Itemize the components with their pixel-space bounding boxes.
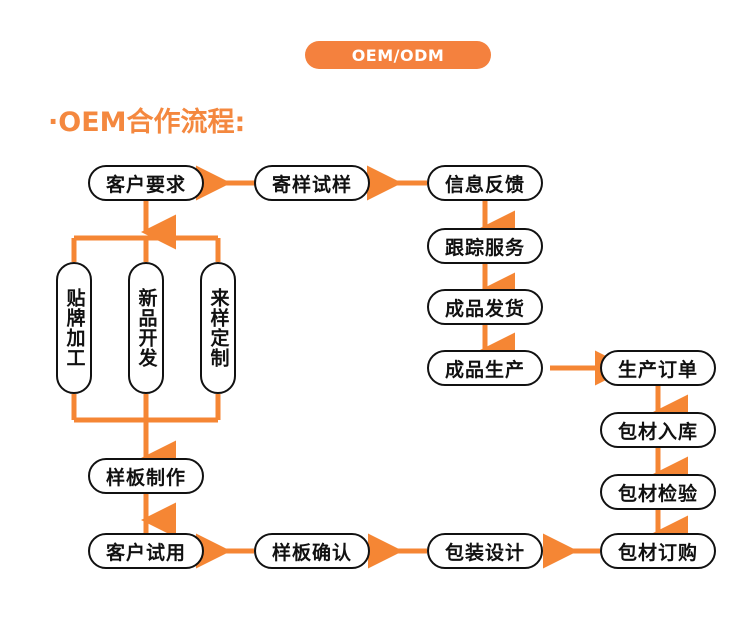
node-packaging-purchase[interactable]: 包材订购 <box>600 533 716 569</box>
node-info-feedback[interactable]: 信息反馈 <box>427 165 543 201</box>
node-customer-trial[interactable]: 客户试用 <box>88 533 204 569</box>
node-sample-confirm[interactable]: 样板确认 <box>254 533 370 569</box>
node-packaging-inspection[interactable]: 包材检验 <box>600 474 716 510</box>
node-oem-processing-label: 贴牌加工 <box>65 288 84 368</box>
flowchart-canvas: OEM/ODM ·OEM合作流程: <box>0 0 752 639</box>
node-send-sample-trial[interactable]: 寄样试样 <box>254 165 370 201</box>
node-new-product-dev-label: 新品开发 <box>137 288 156 368</box>
node-finished-production[interactable]: 成品生产 <box>427 350 543 386</box>
node-new-product-dev[interactable]: 新品开发 <box>128 262 164 394</box>
node-sample-making[interactable]: 样板制作 <box>88 458 204 494</box>
node-customer-requirement[interactable]: 客户要求 <box>88 165 204 201</box>
node-production-order[interactable]: 生产订单 <box>600 350 716 386</box>
node-finished-shipment[interactable]: 成品发货 <box>427 289 543 325</box>
node-packaging-warehouse[interactable]: 包材入库 <box>600 412 716 448</box>
node-oem-processing[interactable]: 贴牌加工 <box>56 262 92 394</box>
node-tracking-service[interactable]: 跟踪服务 <box>427 228 543 264</box>
node-packaging-design[interactable]: 包装设计 <box>427 533 543 569</box>
node-sample-customization[interactable]: 来样定制 <box>200 262 236 394</box>
node-sample-customization-label: 来样定制 <box>209 288 228 368</box>
